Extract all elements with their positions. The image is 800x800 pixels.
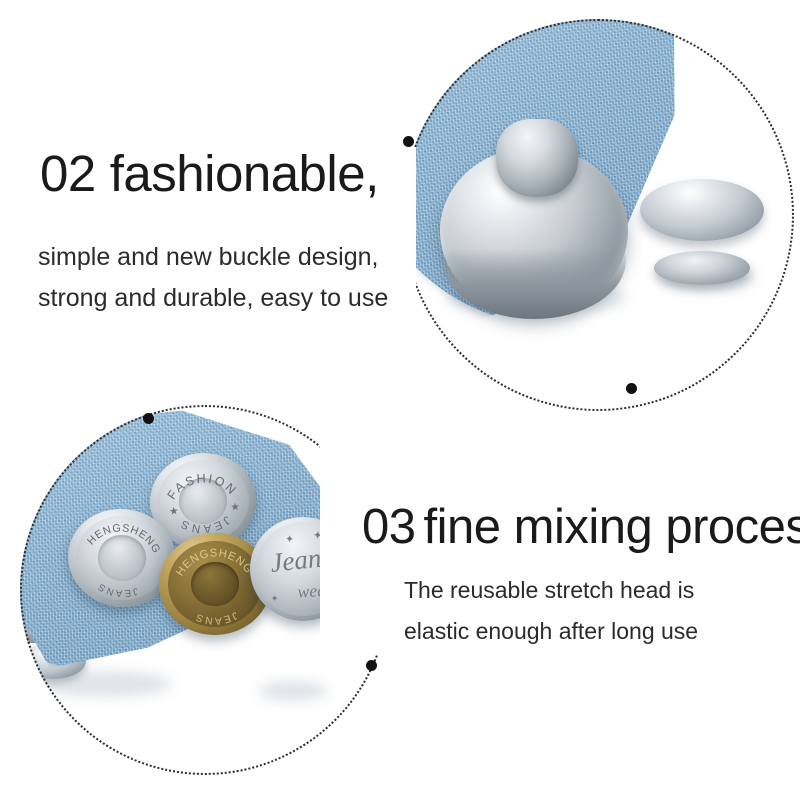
ring-endpoint-dot-upper-left — [403, 136, 414, 147]
photo-circle-fine-mixing: FASHION JEANS ★ ★ — [20, 405, 390, 775]
collar-shadow — [402, 19, 480, 49]
ring-endpoint-dot-lower — [626, 383, 637, 394]
section-03-body-line-1: The reusable stretch head is — [404, 577, 694, 604]
ring-endpoint-dot-top — [143, 413, 154, 424]
section-03-title: fine mixing process — [424, 500, 800, 554]
ring-endpoint-dot-right — [366, 660, 377, 671]
section-03-heading: 03fine mixing process — [362, 500, 800, 554]
photo-circle-fashionable — [402, 19, 794, 411]
section-03-body-line-2: elastic enough after long use — [404, 618, 698, 645]
section-02-title: fashionable, — [110, 145, 379, 202]
section-03-number: 03 — [362, 500, 416, 554]
section-02-body-line-1: simple and new buckle design, — [38, 243, 378, 272]
section-02-number: 02 — [40, 145, 96, 202]
section-02-body-line-2: strong and durable, easy to use — [38, 284, 388, 313]
section-02-heading: 02fashionable, — [40, 146, 379, 202]
product-feature-page: 02fashionable, simple and new buckle des… — [0, 0, 800, 800]
dotted-ring-top — [402, 19, 794, 411]
ring-mask-left — [386, 147, 416, 363]
